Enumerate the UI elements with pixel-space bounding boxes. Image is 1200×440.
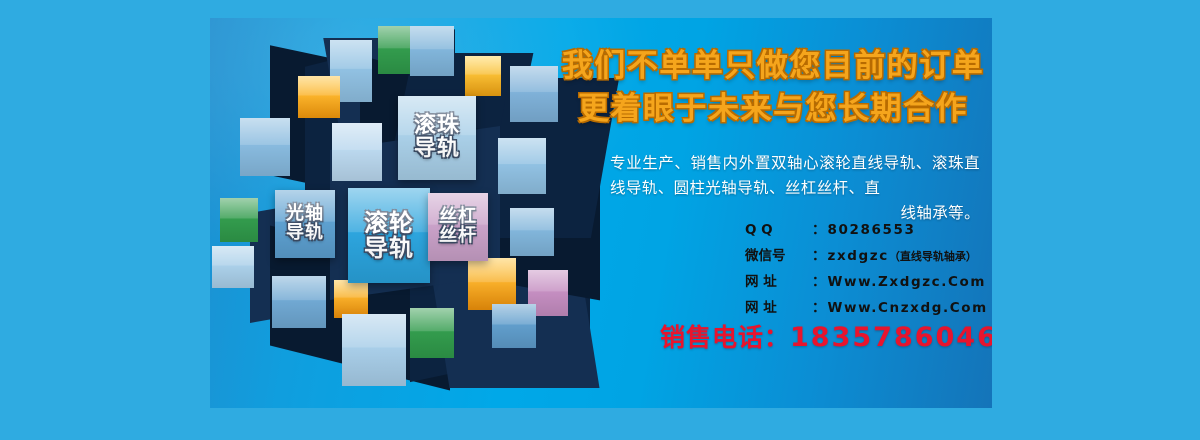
product-label-ball-guide: 滚珠 导轨 (398, 96, 476, 180)
cube-green-bottom (410, 308, 454, 358)
cube-orange-upper (298, 76, 340, 118)
description-line-1: 专业生产、销售内外置双轴心滚轮直线导轨、 (610, 154, 932, 172)
qq-label: Q Q (745, 218, 811, 244)
cube-green-left (220, 198, 258, 242)
cube-blue-right-top (510, 66, 558, 122)
contact-row-website-1: 网 址 ： Www.Zxdgzc.Com (745, 270, 988, 296)
cube-yellow-upper-right (465, 56, 501, 96)
qq-value: 80286553 (828, 218, 916, 244)
contact-block: Q Q ： 80286553 微信号 ： zxdgzc （直线导轨轴承） 网 址… (745, 218, 988, 322)
qq-colon: ： (812, 218, 826, 244)
cube-blue-left-mid (240, 118, 290, 176)
cube-blue-right-mid (498, 138, 546, 194)
description: 专业生产、销售内外置双轴心滚轮直线导轨、滚珠直线导轨、圆柱光轴导轨、丝杠丝杆、直… (610, 151, 980, 226)
headline: 我们不单单只做您目前的订单 更着眼于未来与您长期合作 (558, 45, 988, 131)
headline-line-2: 更着眼于未来与您长期合作 (558, 88, 988, 131)
sales-phone-number: 18357860469 (790, 322, 992, 353)
website1-value[interactable]: Www.Zxdgzc.Com (828, 270, 987, 296)
wechat-value: zxdgzc (828, 244, 889, 270)
wechat-note: （直线导轨轴承） (889, 246, 977, 267)
contact-row-qq: Q Q ： 80286553 (745, 218, 988, 244)
website1-colon: ： (812, 270, 826, 296)
product-label-optical-shaft: 光轴 导轨 (275, 190, 335, 258)
cube-blue-top-right (410, 26, 454, 76)
website1-label: 网 址 (745, 270, 811, 296)
cube-blue-center-pale (332, 123, 382, 181)
product-label-screw-rod: 丝杠 丝杆 (428, 193, 488, 261)
promotional-banner: 滚珠 导轨 光轴 导轨 滚轮 导轨 丝杠 丝杆 我们不单单只做您目前的订单 (0, 0, 1200, 440)
headline-line-1: 我们不单单只做您目前的订单 (558, 45, 988, 88)
cube-blue-bottom-center (342, 314, 406, 386)
cube-orange-lower-right (468, 258, 516, 310)
exploding-cubes-graphic: 滚珠 导轨 光轴 导轨 滚轮 导轨 丝杠 丝杆 (210, 18, 610, 408)
contact-row-wechat: 微信号 ： zxdgzc （直线导轨轴承） (745, 244, 988, 270)
sales-phone: 销售电话：18357860469 (660, 318, 992, 354)
cube-blue-far-left (212, 246, 254, 288)
wechat-colon: ： (812, 244, 826, 270)
cube-orange-lower (334, 280, 368, 318)
banner-panel: 滚珠 导轨 光轴 导轨 滚轮 导轨 丝杠 丝杆 我们不单单只做您目前的订单 (210, 18, 992, 408)
product-label-roller-guide: 滚轮 导轨 (348, 188, 430, 283)
cube-blue-bottom-right (492, 304, 536, 348)
wechat-label: 微信号 (745, 244, 811, 270)
cube-blue-right-mid2 (510, 208, 554, 256)
cube-blue-lower-left (272, 276, 326, 328)
sales-phone-label: 销售电话： (660, 323, 790, 352)
